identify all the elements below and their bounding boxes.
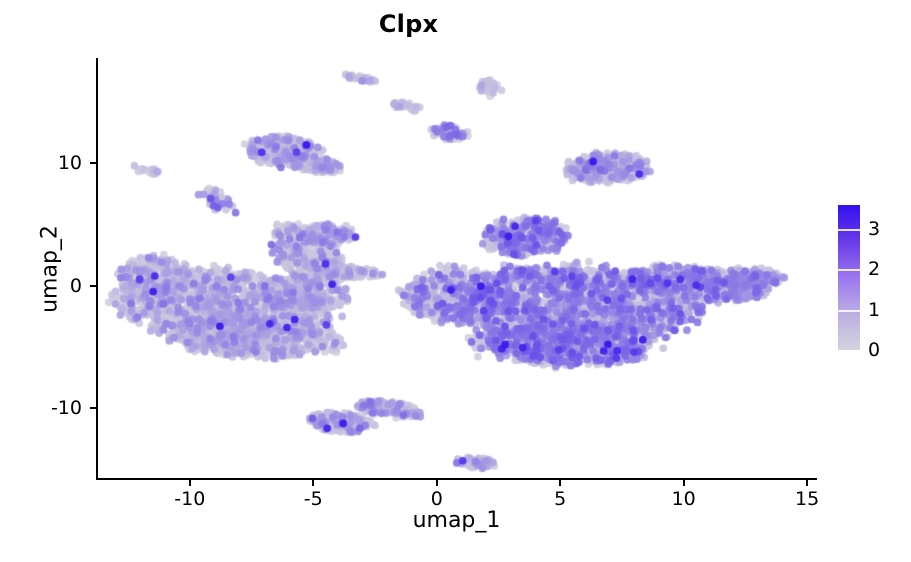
x-tick-mark <box>806 480 808 486</box>
x-tick-mark <box>189 480 191 486</box>
colorbar-gradient <box>838 205 860 350</box>
y-axis-spine <box>96 58 98 480</box>
x-axis-spine <box>96 478 817 480</box>
y-tick-label: 0 <box>70 275 82 297</box>
colorbar-tick-label: 0 <box>868 339 880 361</box>
x-tick-label: 15 <box>795 488 819 510</box>
x-tick-label: 10 <box>672 488 696 510</box>
colorbar-tick-label: 3 <box>868 218 880 240</box>
colorbar-tick-mark <box>838 310 860 312</box>
y-tick-label: 10 <box>58 152 82 174</box>
x-tick-mark <box>559 480 561 486</box>
plot-axes: -10-5051015 -10010 <box>96 58 817 480</box>
y-tick-mark <box>90 407 96 409</box>
colorbar-tick-mark <box>838 229 860 231</box>
x-tick-mark <box>312 480 314 486</box>
x-tick-mark <box>683 480 685 486</box>
y-axis-label: umap_2 <box>37 225 62 313</box>
x-axis-label: umap_1 <box>96 508 817 533</box>
page-title: Clpx <box>0 10 817 38</box>
colorbar-legend: 3210 <box>838 205 911 350</box>
colorbar-tick-label: 2 <box>868 258 880 280</box>
colorbar-tick-label: 1 <box>868 299 880 321</box>
y-tick-mark <box>90 162 96 164</box>
y-tick-label: -10 <box>51 397 82 419</box>
colorbar-tick-mark <box>838 269 860 271</box>
x-tick-label: -10 <box>174 488 205 510</box>
x-tick-label: 0 <box>431 488 443 510</box>
x-tick-mark <box>436 480 438 486</box>
x-tick-label: -5 <box>304 488 323 510</box>
umap-scatter-plot <box>96 58 817 480</box>
x-tick-label: 5 <box>554 488 566 510</box>
feature-plot-figure: Clpx -10-5051015 -10010 umap_1 umap_2 32… <box>0 0 911 562</box>
y-tick-mark <box>90 285 96 287</box>
